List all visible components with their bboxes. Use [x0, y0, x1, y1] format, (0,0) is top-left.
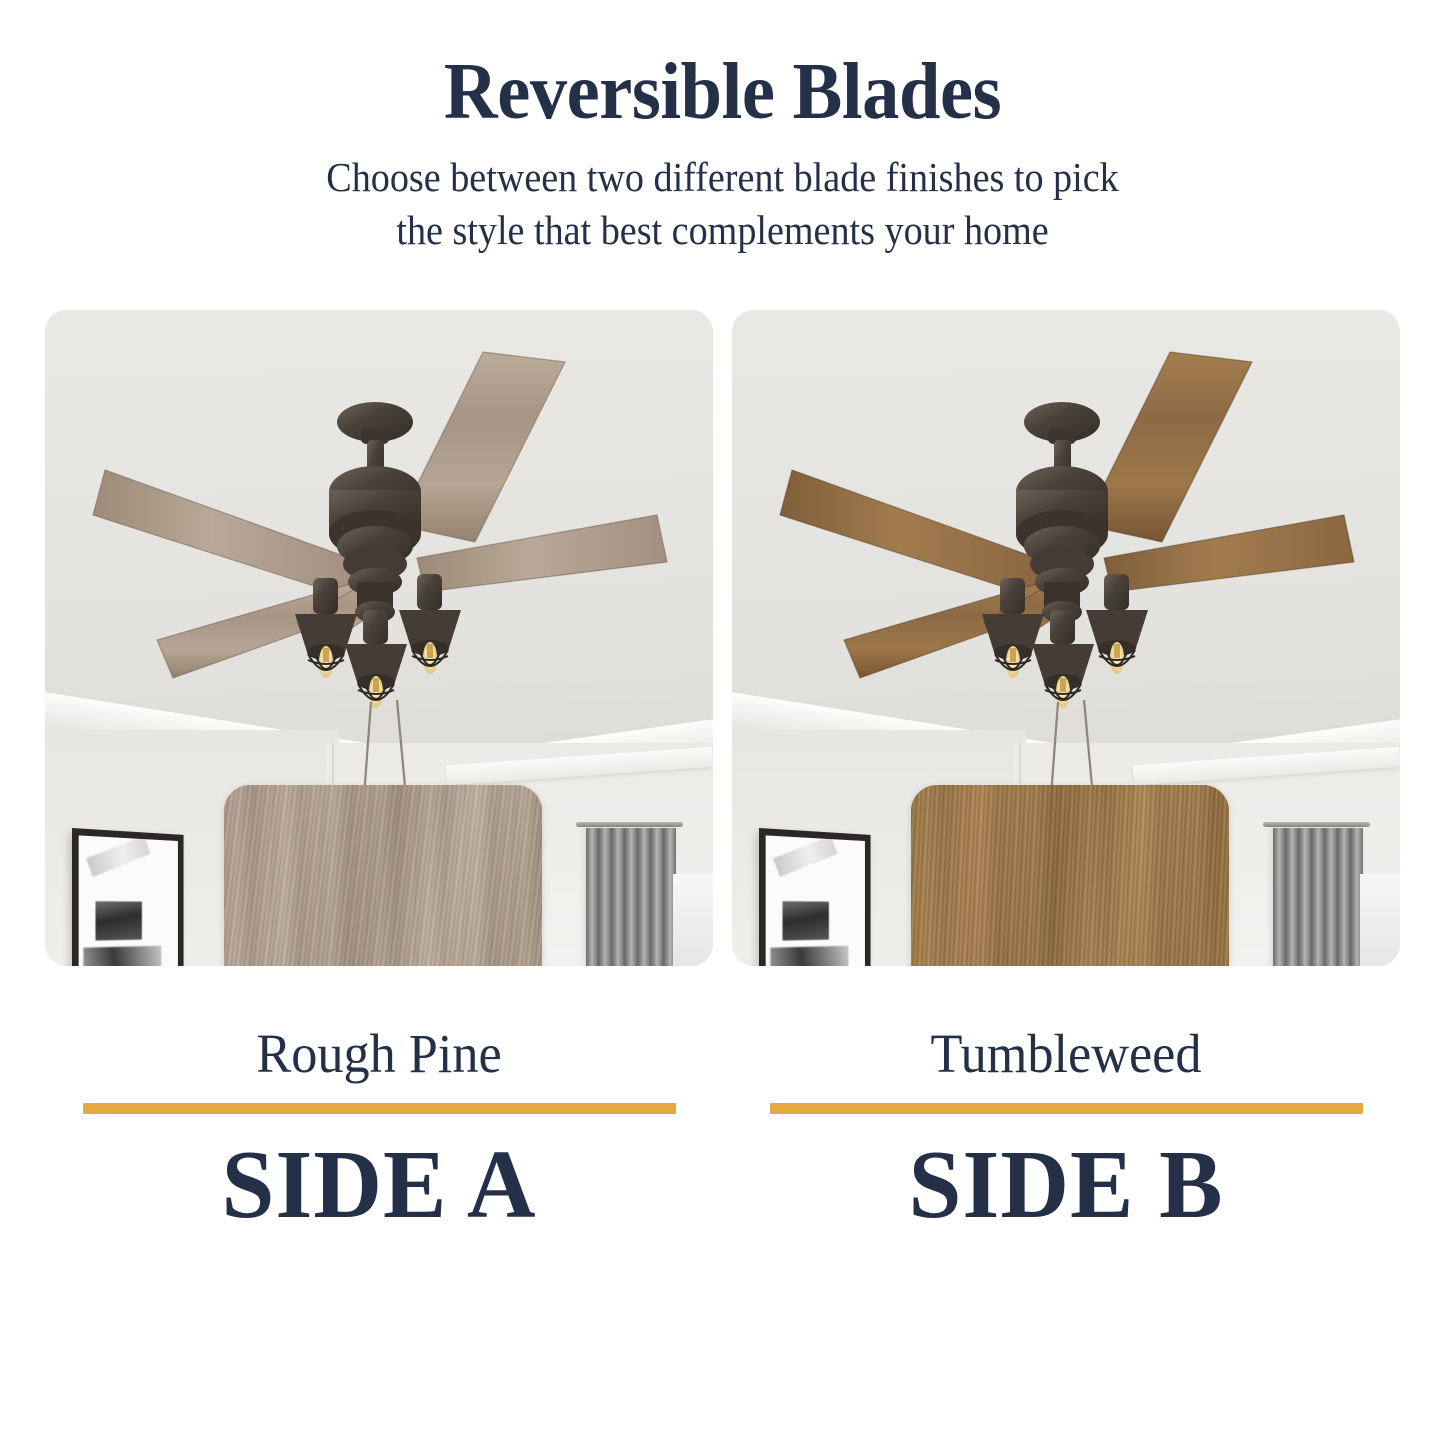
rough-pine-swatch-texture	[224, 785, 542, 966]
page-subtitle: Choose between two different blade finis…	[51, 151, 1395, 256]
divider-rule-side-b	[770, 1103, 1363, 1114]
finish-name-side-b: Tumbleweed	[749, 1026, 1384, 1081]
comparison-columns: Rough Pine SIDE A	[0, 310, 1445, 1234]
subtitle-line-1: Choose between two different blade finis…	[51, 151, 1395, 203]
tumbleweed-swatch-texture	[911, 785, 1229, 966]
header: Reversible Blades Choose between two dif…	[0, 0, 1445, 256]
side-label-a: SIDE A	[55, 1136, 703, 1234]
finish-swatch-side-b	[911, 785, 1229, 966]
page-title: Reversible Blades	[58, 52, 1387, 131]
column-side-a: Rough Pine SIDE A	[45, 310, 713, 1234]
product-photo-side-a	[45, 310, 713, 966]
column-side-b: Tumbleweed SIDE B	[732, 310, 1400, 1234]
subtitle-line-2: the style that best complements your hom…	[51, 204, 1395, 256]
finish-swatch-side-a	[224, 785, 542, 966]
side-label-b: SIDE B	[742, 1136, 1390, 1234]
divider-rule-side-a	[83, 1103, 676, 1114]
product-photo-side-b	[732, 310, 1400, 966]
finish-name-side-a: Rough Pine	[62, 1026, 697, 1081]
